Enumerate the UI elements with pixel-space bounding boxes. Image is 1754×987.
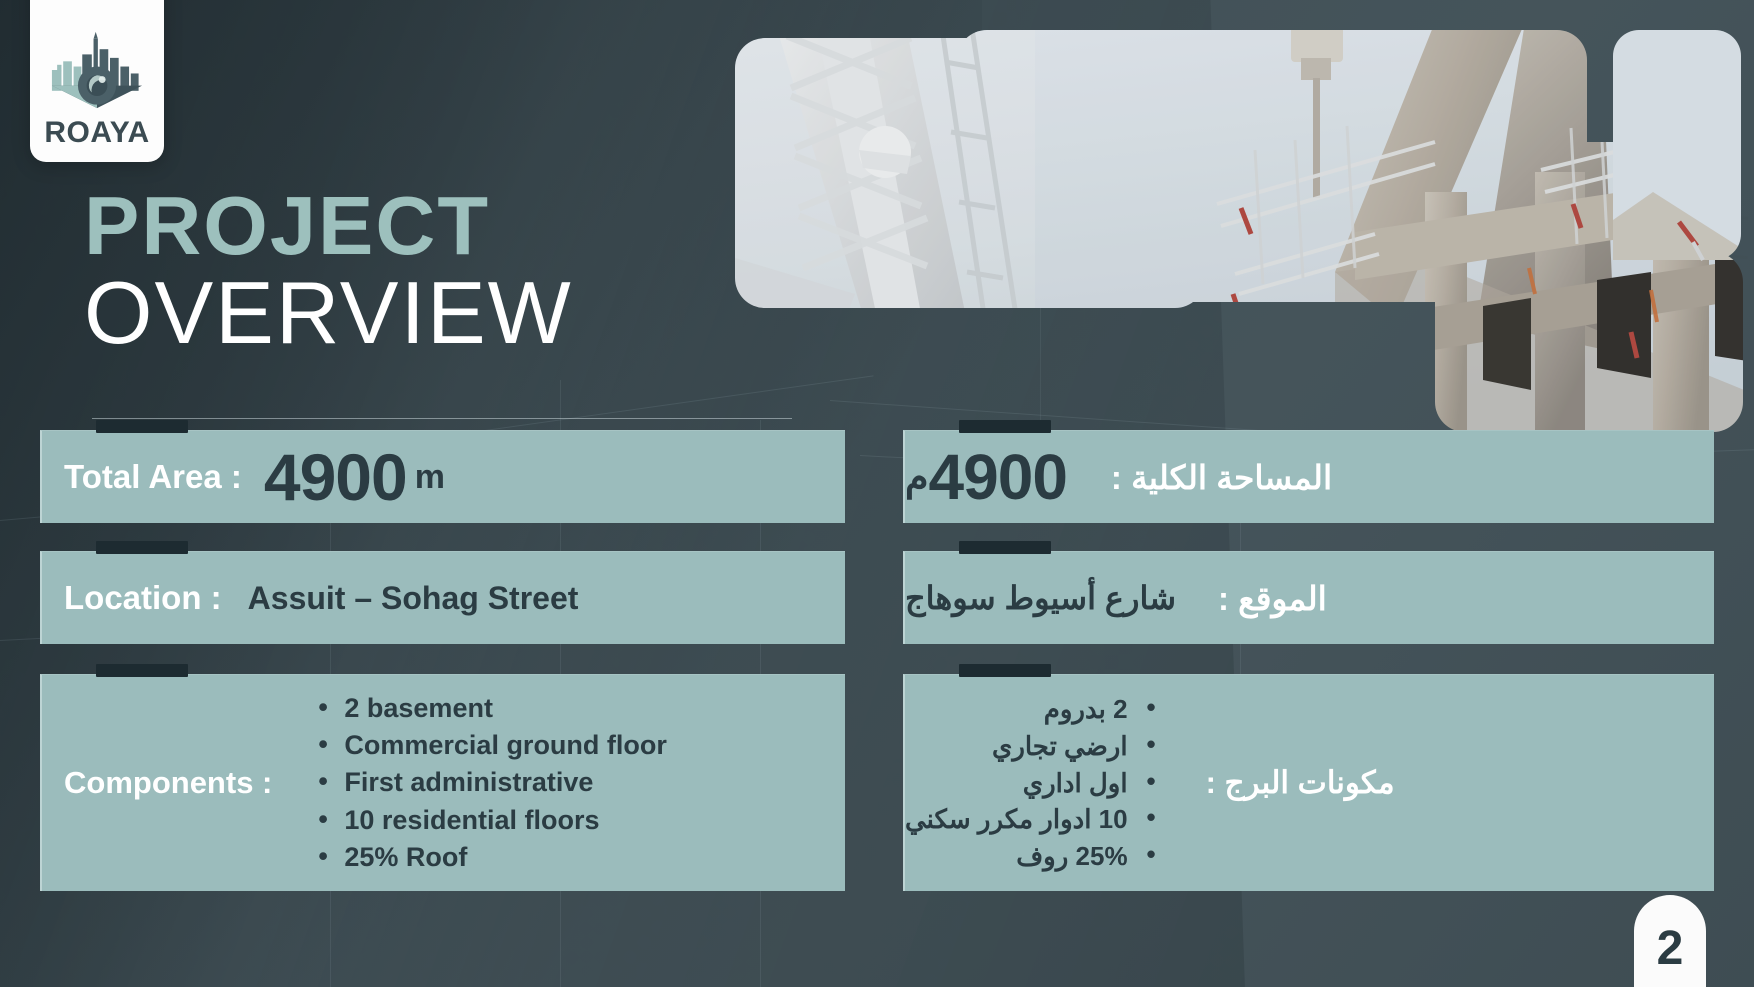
page-title-line1: PROJECT [84, 186, 573, 266]
info-bar-total-area-arabic: المساحة الكلية : 4900 م [903, 430, 1714, 523]
list-item: First administrative [318, 764, 667, 801]
total-area-value-arabic: 4900 [929, 445, 1067, 509]
total-area-unit-arabic: م [905, 455, 929, 500]
brand-logo-card[interactable]: ROAYA [30, 0, 164, 162]
bar-tab-marker [959, 420, 1051, 433]
collage-masked-photo [735, 22, 1754, 432]
list-item: ارضي تجاري [905, 728, 1156, 765]
brand-logo-wordmark: ROAYA [44, 118, 149, 148]
components-list: 2 basement Commercial ground floor First… [318, 690, 667, 876]
page-title-line2: OVERVIEW [84, 268, 573, 358]
bar-tab-marker [96, 420, 188, 433]
location-value: Assuit – Sohag Street [248, 580, 579, 617]
components-label: Components : [64, 765, 272, 801]
info-bar-total-area: Total Area : 4900 m [40, 430, 845, 523]
total-area-unit: m [415, 458, 445, 497]
bar-tab-marker [959, 541, 1051, 554]
components-list-arabic: 2 بدروم ارضي تجاري اول اداري 10 ادوار مك… [905, 691, 1156, 876]
info-bar-components: Components : 2 basement Commercial groun… [40, 674, 845, 891]
total-area-label: Total Area : [64, 458, 242, 496]
list-item: 2 بدروم [905, 691, 1156, 728]
list-item: 2 basement [318, 690, 667, 727]
page-title: PROJECT OVERVIEW [84, 186, 573, 357]
info-bar-components-arabic: مكونات البرج : 2 بدروم ارضي تجاري اول اد… [903, 674, 1714, 891]
bar-tab-marker [96, 541, 188, 554]
photo-collage-svg [735, 22, 1754, 432]
slide-canvas: ROAYA PROJECT OVERVIEW Total Area : 4900… [0, 0, 1754, 987]
title-divider [92, 418, 792, 419]
total-area-value: 4900 [264, 444, 407, 510]
location-value-arabic: شارع أسيوط سوهاج [905, 579, 1176, 617]
page-number-badge: 2 [1634, 895, 1706, 987]
location-label-arabic: الموقع : [1218, 579, 1327, 618]
list-item: 25% Roof [318, 839, 667, 876]
location-label: Location : [64, 579, 222, 617]
list-item: اول اداري [905, 765, 1156, 802]
info-bar-location: Location : Assuit – Sohag Street [40, 551, 845, 644]
bar-tab-marker [96, 664, 188, 677]
total-area-label-arabic: المساحة الكلية : [1111, 458, 1332, 497]
page-number: 2 [1657, 925, 1684, 973]
city-skyline-eye-logo-icon [45, 28, 149, 112]
components-label-arabic: مكونات البرج : [1206, 765, 1395, 801]
photo-collage [735, 22, 1754, 432]
list-item: 10 residential floors [318, 802, 667, 839]
list-item: Commercial ground floor [318, 727, 667, 764]
list-item: 10 ادوار مكرر سكني [905, 801, 1156, 838]
info-bar-location-arabic: الموقع : شارع أسيوط سوهاج [903, 551, 1714, 644]
bar-tab-marker [959, 664, 1051, 677]
list-item: 25% روف [905, 838, 1156, 875]
